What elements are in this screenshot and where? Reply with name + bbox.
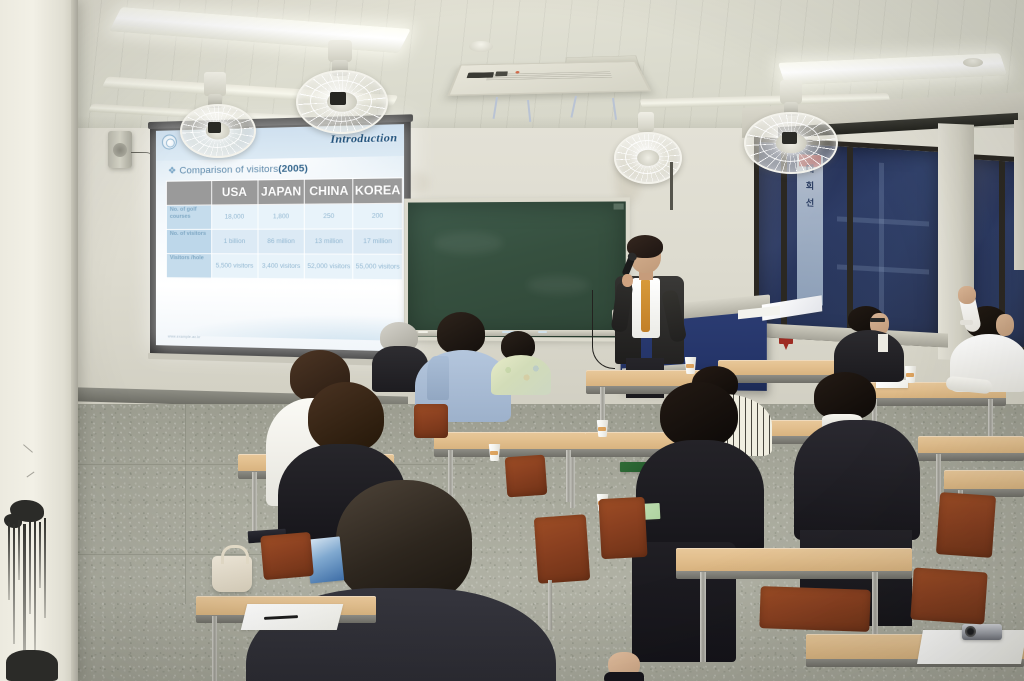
paint-stain (2, 500, 64, 681)
wall-mounted-speaker (108, 131, 132, 168)
student-desk (718, 360, 846, 376)
row-label-golf-courses: No. of golf courses (166, 205, 211, 229)
cell-perhole-china: 52,000 visitors (305, 254, 353, 279)
outdoor-banner: 대회선 (797, 154, 823, 305)
ac-panel (495, 71, 508, 76)
white-handbag (212, 556, 252, 592)
comparison-table: USA JAPAN CHINA KOREA No. of golf course… (166, 177, 403, 280)
cell-visitors-japan: 86 million (258, 229, 305, 254)
necktie (641, 280, 650, 332)
classroom-scene: Introduction ❖Comparison of visitors(200… (0, 0, 1024, 681)
smoke-detector-icon (963, 58, 983, 67)
student-desk (676, 548, 912, 572)
projection-screen: Introduction ❖Comparison of visitors(200… (150, 120, 411, 363)
desk-leg (212, 616, 217, 681)
column-header-japan: JAPAN (258, 179, 305, 204)
classroom-chair[interactable] (598, 497, 647, 559)
classroom-chair[interactable] (759, 586, 870, 632)
cell-visitors-china: 13 million (305, 229, 353, 254)
table-header-row: USA JAPAN CHINA KOREA (166, 178, 402, 206)
desk-leg (252, 472, 257, 532)
concrete-pillar (0, 0, 78, 681)
window-pillar-far (1014, 120, 1024, 270)
desk-leg (988, 399, 993, 441)
cell-golf-usa: 18,000 (211, 205, 257, 230)
ceiling-air-conditioner (447, 61, 651, 96)
classroom-chair[interactable] (260, 532, 314, 580)
column-header-korea: KOREA (353, 178, 402, 204)
slide-heading-year: (2005) (278, 163, 308, 175)
desk-leg (566, 450, 571, 502)
classroom-chair[interactable] (505, 455, 548, 498)
cell-perhole-usa: 5,500 visitors (211, 254, 257, 279)
bullet-icon: ❖ (168, 166, 177, 177)
table-corner-cell (166, 181, 211, 206)
cell-perhole-korea: 55,000 visitors (353, 254, 402, 280)
chalkboard-corner-clip (614, 203, 624, 209)
row-label-visitors: No. of visitors (166, 229, 211, 253)
chair-leg (548, 580, 552, 630)
desk-leg (700, 572, 706, 662)
classroom-chair[interactable] (534, 514, 590, 583)
table-row: No. of golf courses 18,000 1,800 250 200 (166, 203, 402, 229)
column-header-china: CHINA (305, 179, 353, 205)
slide-footer-url: www.example.ac.kr (168, 334, 201, 339)
student-desk (434, 432, 586, 450)
cell-visitors-korea: 17 million (353, 229, 402, 254)
cell-golf-korea: 200 (353, 203, 402, 229)
cell-perhole-japan: 3,400 visitors (258, 254, 305, 279)
presentation-slide: Introduction ❖Comparison of visitors(200… (156, 124, 404, 351)
compact-camera (962, 624, 1002, 640)
classroom-chair[interactable] (910, 567, 987, 624)
student-desk (944, 470, 1024, 490)
student-desk (918, 436, 1024, 454)
slide-heading-text: Comparison of visitors (179, 164, 278, 177)
column-header-usa: USA (211, 180, 257, 205)
table-row: Visitors /hole 5,500 visitors 3,400 visi… (166, 254, 402, 280)
row-label-visitors-per-hole: Visitors /hole (166, 254, 211, 279)
classroom-chair[interactable] (936, 492, 996, 558)
slide-heading: ❖Comparison of visitors(2005) (168, 163, 308, 177)
cell-visitors-usa: 1 billion (211, 229, 257, 254)
pillar-edge (71, 0, 78, 681)
cell-golf-japan: 1,800 (258, 204, 305, 229)
smoke-detector-icon (469, 41, 493, 52)
cell-golf-china: 250 (305, 204, 353, 229)
table-row: No. of visitors 1 billion 86 million 13 … (166, 229, 402, 254)
ac-panel (467, 72, 494, 78)
classroom-chair[interactable] (414, 404, 448, 438)
